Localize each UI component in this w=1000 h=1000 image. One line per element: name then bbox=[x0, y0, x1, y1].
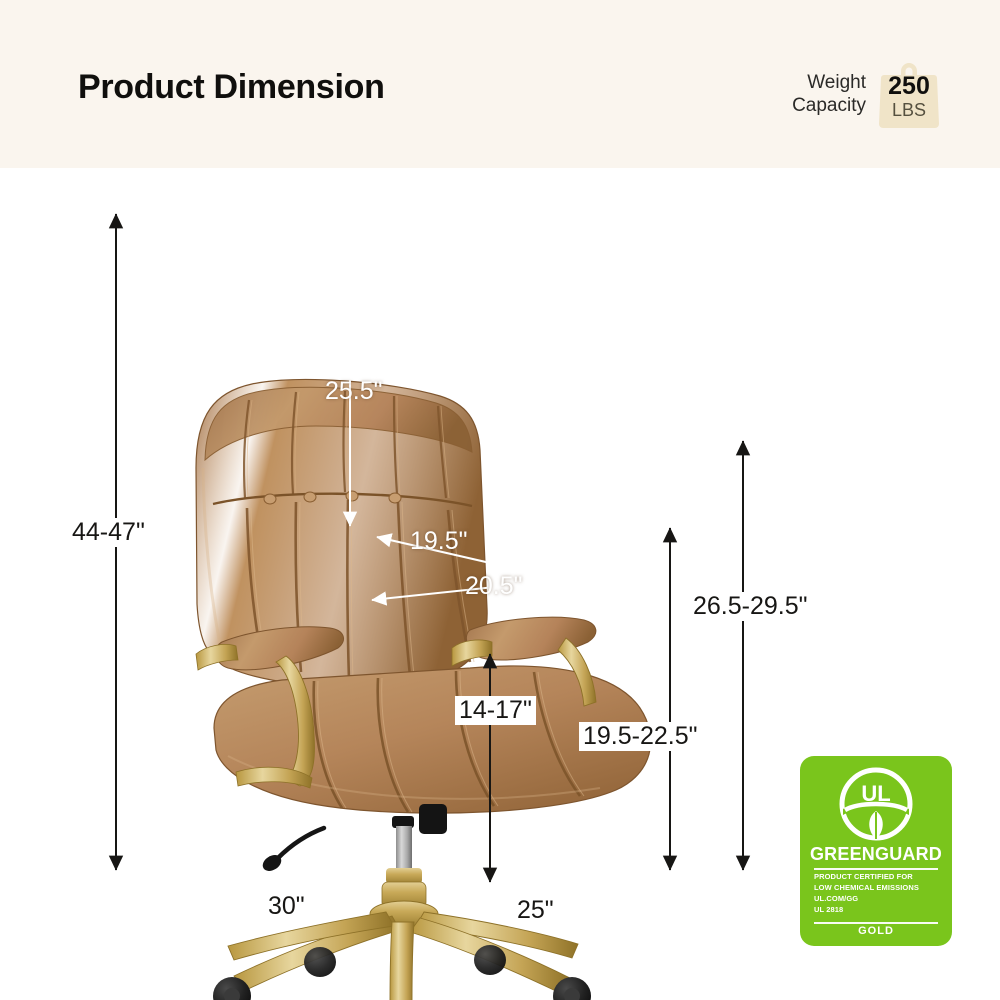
page-title: Product Dimension bbox=[78, 68, 385, 107]
weight-bag-icon: 250 LBS bbox=[878, 58, 940, 130]
greenguard-certification-badge: UL GREENGUARD PRODUCT CERTIFIED FOR LOW … bbox=[800, 756, 952, 946]
label-base-width: 30" bbox=[264, 892, 309, 921]
fine-print-line-4: UL 2818 bbox=[814, 905, 942, 916]
label-total-height: 26.5-29.5" bbox=[689, 592, 812, 621]
badge-divider-top bbox=[814, 868, 938, 870]
label-overall-height: 44-47" bbox=[68, 518, 149, 547]
label-back-height: 19.5-22.5" bbox=[579, 722, 702, 751]
tilt-lever bbox=[278, 828, 324, 858]
label-seat-depth: 19.5" bbox=[410, 527, 468, 556]
greenguard-fine-print: PRODUCT CERTIFIED FOR LOW CHEMICAL EMISS… bbox=[814, 872, 942, 916]
weight-unit: LBS bbox=[878, 100, 940, 121]
gas-lift-button bbox=[419, 804, 447, 834]
label-seat-height: 14-17" bbox=[455, 696, 536, 725]
weight-capacity-label: Weight Capacity bbox=[792, 71, 866, 117]
weight-capacity-badge: Weight Capacity 250 LBS bbox=[792, 58, 940, 130]
weight-value: 250 bbox=[878, 72, 940, 101]
label-base-depth: 25" bbox=[513, 896, 558, 925]
ul-leaf-icon: UL bbox=[837, 765, 915, 848]
weight-capacity-label-line1: Weight bbox=[792, 71, 866, 94]
fine-print-line-2: LOW CHEMICAL EMISSIONS bbox=[814, 883, 942, 894]
gas-cylinder bbox=[396, 826, 412, 870]
fine-print-line-1: PRODUCT CERTIFIED FOR bbox=[814, 872, 942, 883]
label-backrest-height: 25.5" bbox=[325, 377, 383, 406]
greenguard-brand: GREENGUARD bbox=[800, 844, 952, 865]
fine-print-line-3: UL.COM/GG bbox=[814, 894, 942, 905]
greenguard-level: GOLD bbox=[800, 925, 952, 937]
label-seat-width: 20.5" bbox=[465, 572, 523, 601]
badge-divider-bottom bbox=[814, 922, 938, 924]
armrest-support-right bbox=[452, 640, 492, 666]
weight-capacity-label-line2: Capacity bbox=[792, 94, 866, 117]
